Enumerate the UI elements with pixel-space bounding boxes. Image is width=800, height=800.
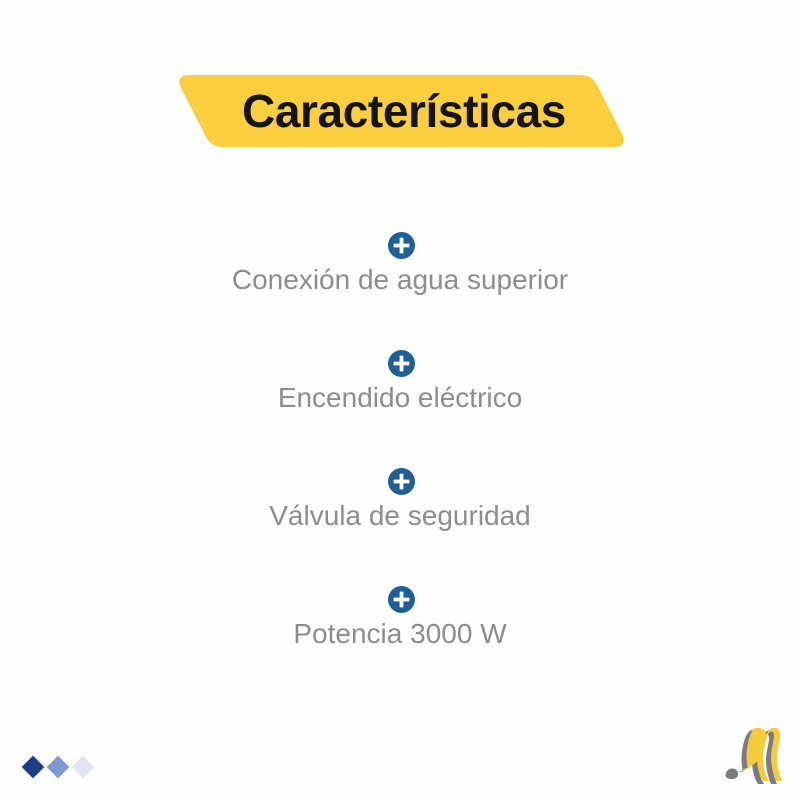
banner: Características bbox=[0, 62, 800, 162]
feature-label: Potencia 3000 W bbox=[0, 618, 800, 650]
feature-label: Encendido eléctrico bbox=[0, 382, 800, 414]
feature-label: Válvula de seguridad bbox=[0, 500, 800, 532]
diamond-icon bbox=[72, 756, 95, 779]
cursive-h-logo bbox=[718, 728, 784, 790]
list-item: Conexión de agua superior bbox=[0, 232, 800, 350]
diamond-decoration bbox=[20, 757, 115, 785]
list-item: Encendido eléctrico bbox=[0, 350, 800, 468]
plus-circle-icon bbox=[388, 232, 415, 259]
feature-list: Conexión de agua superior Encendido eléc… bbox=[0, 232, 800, 704]
plus-circle-icon bbox=[388, 586, 415, 613]
list-item: Válvula de seguridad bbox=[0, 468, 800, 586]
poster-canvas: Características Conexión de agua superio… bbox=[0, 0, 800, 800]
list-item: Potencia 3000 W bbox=[0, 586, 800, 704]
feature-label: Conexión de agua superior bbox=[0, 264, 800, 296]
plus-circle-icon bbox=[388, 468, 415, 495]
diamond-icon bbox=[22, 756, 45, 779]
plus-circle-icon bbox=[388, 350, 415, 377]
page-title: Características bbox=[0, 75, 800, 147]
diamond-icon bbox=[47, 756, 70, 779]
